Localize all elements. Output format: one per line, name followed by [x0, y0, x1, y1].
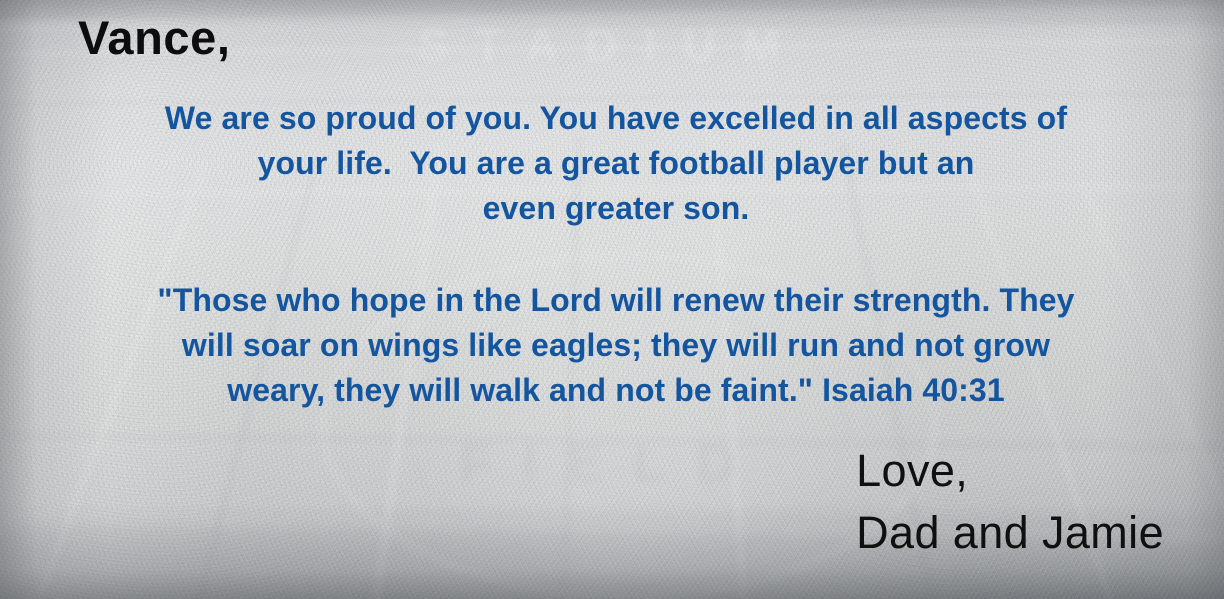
verse-line: weary, they will walk and not be faint."…: [48, 368, 1184, 413]
message-line: your life. You are a great football play…: [56, 141, 1176, 186]
signature-closing: Love,: [856, 440, 1164, 502]
signature-names: Dad and Jamie: [856, 502, 1164, 564]
card-content: Vance, We are so proud of you. You have …: [0, 0, 1224, 599]
tribute-card: STADIUM FIELD Vance, We are so proud of …: [0, 0, 1224, 599]
message-line: We are so proud of you. You have excelle…: [56, 96, 1176, 141]
scripture-verse: "Those who hope in the Lord will renew t…: [48, 278, 1184, 413]
salutation-heading: Vance,: [78, 12, 231, 65]
personal-message: We are so proud of you. You have excelle…: [56, 96, 1176, 231]
signature-block: Love, Dad and Jamie: [856, 440, 1164, 564]
verse-line: will soar on wings like eagles; they wil…: [48, 323, 1184, 368]
message-line: even greater son.: [56, 186, 1176, 231]
verse-line: "Those who hope in the Lord will renew t…: [48, 278, 1184, 323]
